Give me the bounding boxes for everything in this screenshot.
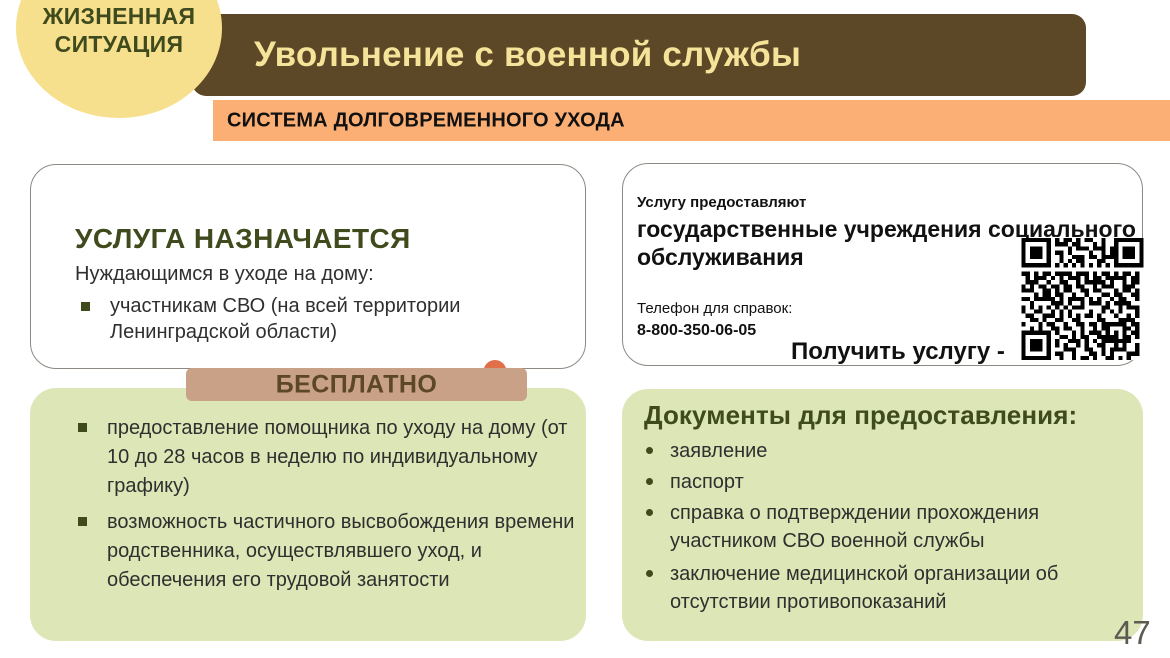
list-item: паспорт	[646, 468, 1126, 496]
list-item-label: заключение медицинской организации об от…	[670, 560, 1126, 616]
phone-label: Телефон для справок:	[637, 300, 792, 317]
round-bullet-icon	[646, 447, 653, 454]
free-of-charge-banner: БЕСПЛАТНО	[186, 368, 527, 401]
square-bullet-icon	[78, 423, 87, 432]
get-service-cta: Получить услугу -	[791, 338, 1005, 366]
free-of-charge-label: БЕСПЛАТНО	[186, 370, 527, 399]
slide-title-bar: Увольнение с военной службы	[192, 14, 1086, 96]
list-item: предоставление помощника по уходу на дом…	[78, 414, 578, 501]
documents-heading: Документы для предоставления:	[644, 400, 1077, 431]
badge-line-1: ЖИЗНЕННАЯ	[16, 2, 222, 30]
badge-line-2: СИТУАЦИЯ	[16, 30, 222, 58]
list-item-label: заявление	[670, 437, 767, 465]
list-item: заключение медицинской организации об от…	[646, 560, 1126, 616]
list-item: справка о подтверждении прохождения учас…	[646, 499, 1126, 555]
benefits-box: предоставление помощника по уходу на дом…	[30, 388, 586, 641]
slide-subtitle-bar: СИСТЕМА ДОЛГОВРЕМЕННОГО УХОДА	[213, 100, 1170, 141]
round-bullet-icon	[646, 478, 653, 485]
slide-canvas: Увольнение с военной службы ЖИЗНЕННАЯ СИ…	[0, 0, 1170, 658]
list-item-label: справка о подтверждении прохождения учас…	[670, 499, 1126, 555]
list-item: возможность частичного высвобождения вре…	[78, 508, 578, 595]
list-item-label: участникам СВО (на всей территории Ленин…	[110, 293, 581, 346]
list-item-label: предоставление помощника по уходу на дом…	[107, 414, 578, 501]
documents-box: Документы для предоставления: заявление …	[622, 389, 1143, 641]
qr-code-icon[interactable]	[1021, 238, 1144, 360]
list-item: заявление	[646, 437, 1126, 465]
life-situation-badge: ЖИЗНЕННАЯ СИТУАЦИЯ	[16, 0, 222, 118]
page-title: Увольнение с военной службы	[254, 35, 801, 75]
service-assignment-card: УСЛУГА НАЗНАЧАЕТСЯ Нуждающимся в уходе н…	[30, 164, 586, 369]
page-subtitle: СИСТЕМА ДОЛГОВРЕМЕННОГО УХОДА	[227, 109, 625, 132]
life-situation-badge-text: ЖИЗНЕННАЯ СИТУАЦИЯ	[16, 2, 222, 58]
square-bullet-icon	[81, 302, 90, 311]
service-assignment-subheading: Нуждающимся в уходе на дому:	[75, 263, 374, 286]
provider-label: Услугу предоставляют	[637, 194, 806, 211]
phone-number: 8-800-350-06-05	[637, 322, 756, 340]
round-bullet-icon	[646, 570, 653, 577]
service-assignment-heading: УСЛУГА НАЗНАЧАЕТСЯ	[75, 223, 411, 255]
round-bullet-icon	[646, 509, 653, 516]
list-item-label: возможность частичного высвобождения вре…	[107, 508, 578, 595]
service-provider-card: Услугу предоставляют государственные учр…	[622, 163, 1143, 366]
list-item: участникам СВО (на всей территории Ленин…	[81, 293, 581, 346]
list-item-label: паспорт	[670, 468, 744, 496]
page-number: 47	[1114, 614, 1151, 652]
square-bullet-icon	[78, 517, 87, 526]
